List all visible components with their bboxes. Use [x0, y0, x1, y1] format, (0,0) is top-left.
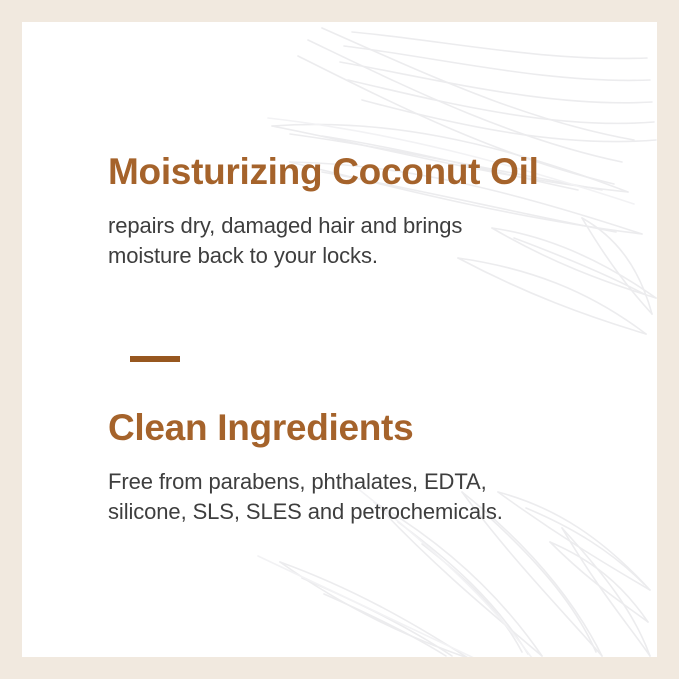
section-body-moisturizing: repairs dry, damaged hair and brings moi… [108, 211, 608, 271]
section-body-line-1: repairs dry, damaged hair and brings [108, 213, 462, 238]
section-divider-rule [130, 356, 180, 362]
section-body-line-1: Free from parabens, phthalates, EDTA, [108, 469, 487, 494]
card-inner-surface: Moisturizing Coconut Oil repairs dry, da… [22, 22, 657, 657]
feature-section-moisturizing: Moisturizing Coconut Oil repairs dry, da… [108, 149, 608, 271]
card-content: Moisturizing Coconut Oil repairs dry, da… [22, 22, 657, 657]
section-body-line-2: silicone, SLS, SLES and petrochemicals. [108, 499, 503, 524]
section-body-clean-ingredients: Free from parabens, phthalates, EDTA, si… [108, 467, 608, 527]
product-feature-card: Moisturizing Coconut Oil repairs dry, da… [0, 0, 679, 679]
section-heading-clean-ingredients: Clean Ingredients [108, 405, 608, 451]
section-body-line-2: moisture back to your locks. [108, 243, 378, 268]
section-heading-moisturizing: Moisturizing Coconut Oil [108, 149, 608, 195]
feature-section-clean-ingredients: Clean Ingredients Free from parabens, ph… [108, 405, 608, 527]
